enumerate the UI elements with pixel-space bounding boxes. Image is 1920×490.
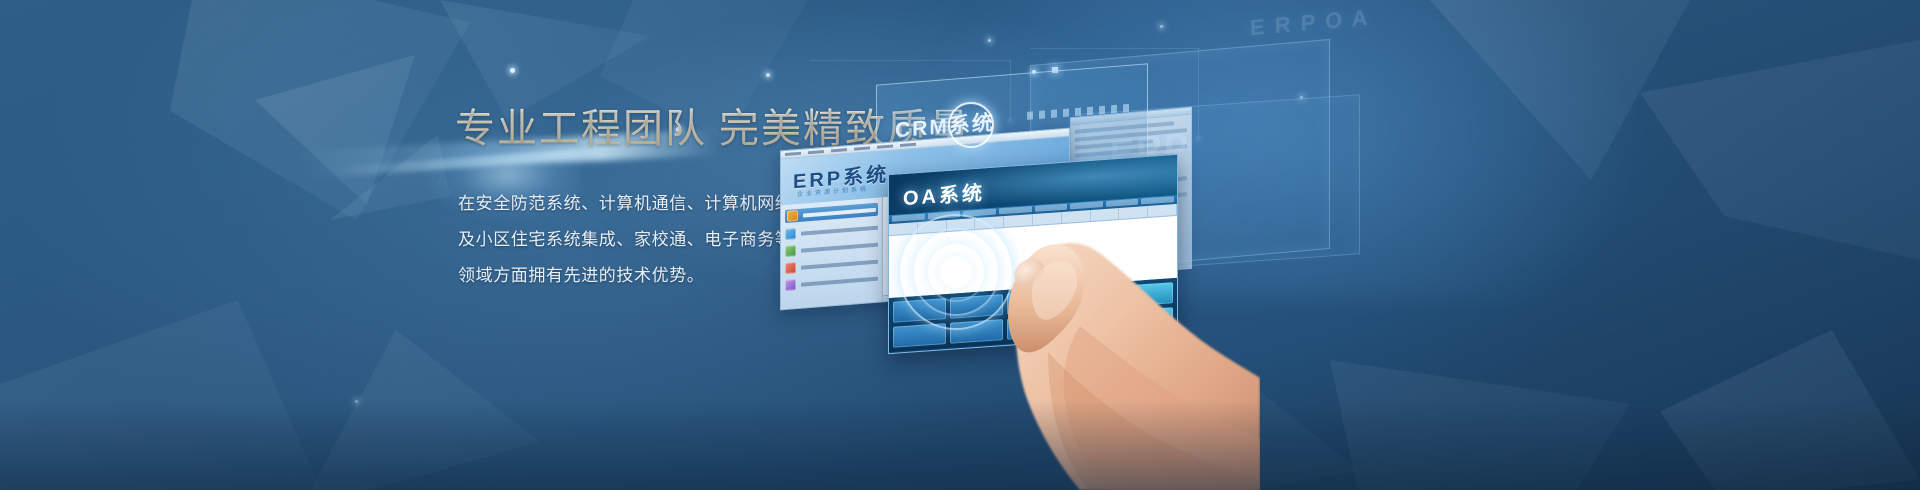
pointing-hand xyxy=(930,206,1260,490)
list-icon xyxy=(785,245,796,257)
erp-nav-item[interactable] xyxy=(785,256,878,274)
erp-nav-item[interactable] xyxy=(785,222,878,240)
folder-icon xyxy=(787,210,798,222)
crm-title-dashes xyxy=(1027,103,1135,119)
software-showcase: E R P O A ERP HAN CRM系统 客户关系管理系统 ERP系统 xyxy=(780,0,1920,490)
erp-sidebar[interactable] xyxy=(781,197,883,310)
ghost-watermark-top: E R P O A xyxy=(1250,5,1369,41)
report-icon xyxy=(785,262,796,274)
settings-icon xyxy=(785,279,796,291)
document-icon xyxy=(785,228,796,240)
hero-banner: 专业工程团队 完美精致质量 在安全防范系统、计算机通信、计算机网络、智能大厦 及… xyxy=(0,0,1920,490)
erp-nav-item[interactable] xyxy=(785,273,878,291)
erp-nav-item[interactable] xyxy=(785,239,878,257)
erp-nav-item[interactable] xyxy=(785,203,878,223)
touch-ring xyxy=(948,102,994,148)
